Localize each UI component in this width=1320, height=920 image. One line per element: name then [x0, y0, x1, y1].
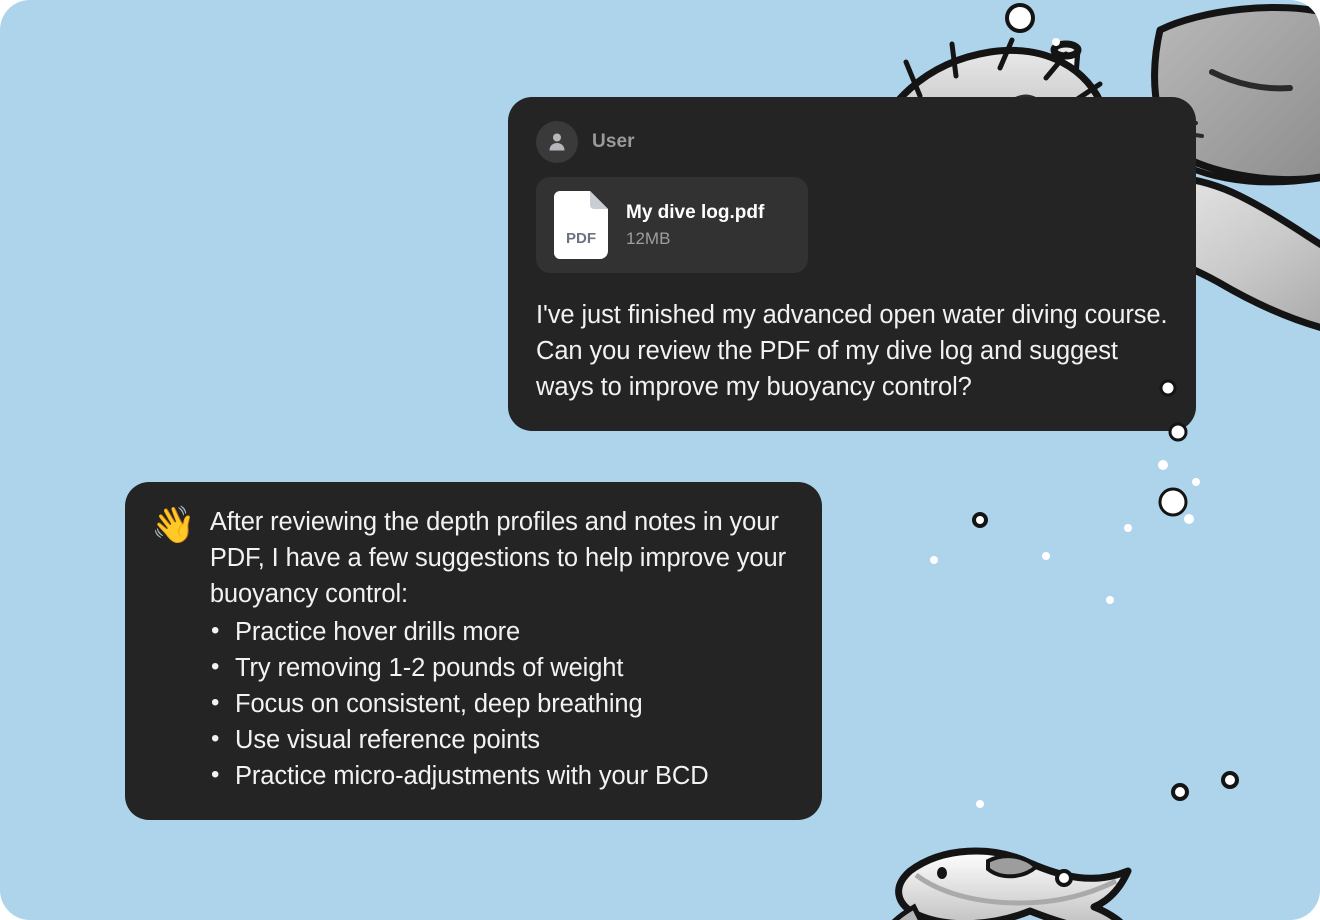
assistant-intro-row: 👋 After reviewing the depth profiles and…: [151, 504, 794, 612]
user-message-text: I've just finished my advanced open wate…: [536, 297, 1168, 405]
person-avatar-icon: [536, 121, 578, 163]
waving-hand-emoji: 👋: [151, 506, 196, 544]
assistant-suggestion-list: Practice hover drills more Try removing …: [151, 614, 794, 794]
user-message-header: User: [536, 121, 1168, 163]
list-item: Use visual reference points: [209, 722, 794, 758]
list-item: Try removing 1-2 pounds of weight: [209, 650, 794, 686]
user-message-bubble: User PDF My dive log.pdf 12MB I've just …: [508, 97, 1196, 431]
user-name-label: User: [592, 131, 635, 153]
list-item: Focus on consistent, deep breathing: [209, 686, 794, 722]
pdf-file-icon: PDF: [554, 191, 608, 259]
attachment-file-size: 12MB: [626, 229, 764, 249]
list-item: Practice hover drills more: [209, 614, 794, 650]
pdf-attachment-card[interactable]: PDF My dive log.pdf 12MB: [536, 177, 808, 273]
assistant-message-bubble: 👋 After reviewing the depth profiles and…: [125, 482, 822, 820]
screenshot-canvas: User PDF My dive log.pdf 12MB I've just …: [0, 0, 1320, 920]
attachment-file-name: My dive log.pdf: [626, 202, 764, 224]
fish: [882, 851, 1132, 920]
assistant-intro-text: After reviewing the depth profiles and n…: [210, 504, 794, 612]
svg-text:PDF: PDF: [566, 230, 596, 247]
list-item: Practice micro-adjustments with your BCD: [209, 758, 794, 794]
